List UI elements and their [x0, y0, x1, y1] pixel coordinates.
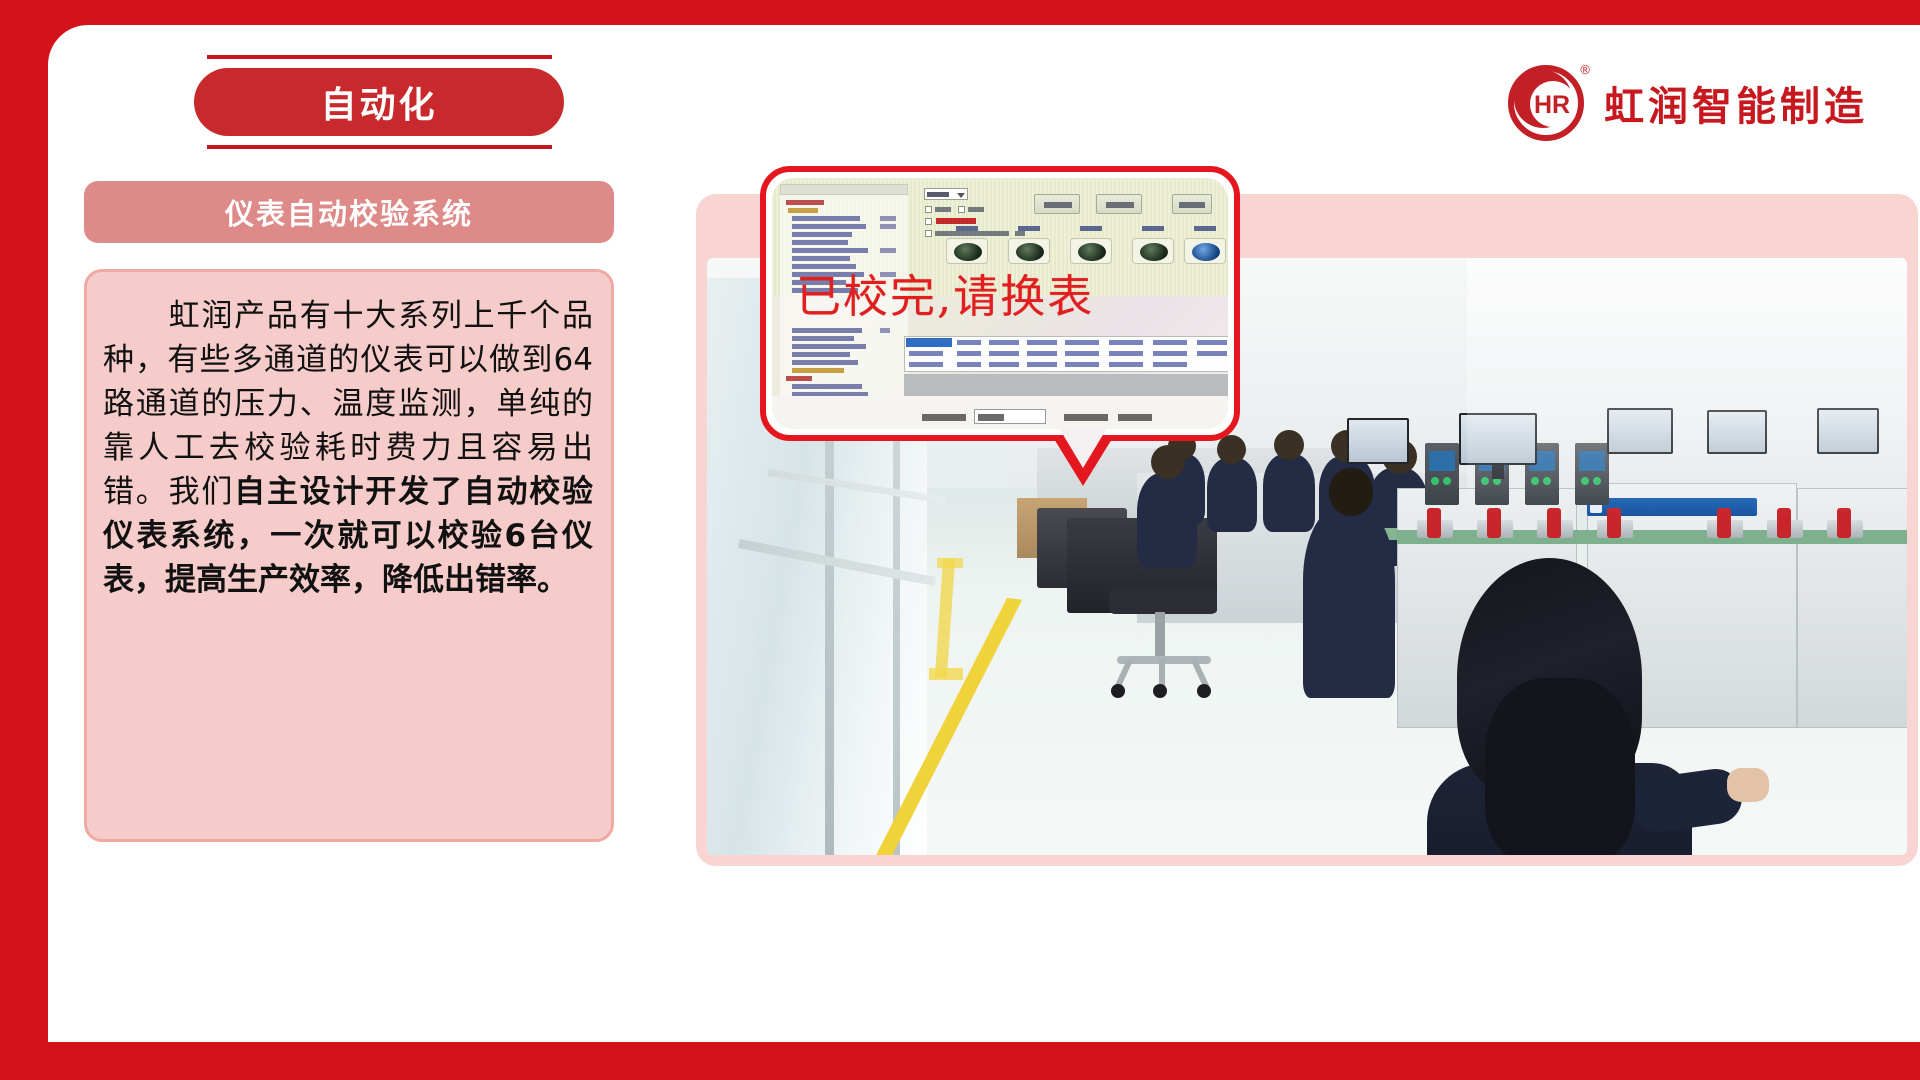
photo-worker-head — [1274, 430, 1304, 460]
grid-cell — [1065, 351, 1099, 356]
lamp-label-4 — [1132, 226, 1174, 232]
photo-monitor-4 — [1347, 418, 1409, 464]
software-status-strip — [904, 374, 1228, 396]
range-value — [1118, 414, 1152, 421]
photo-worker-far-2 — [1207, 458, 1257, 532]
grid-cell — [1027, 362, 1057, 367]
photo-worker-standing — [1303, 508, 1395, 698]
photo-floor-marker-2 — [937, 558, 963, 568]
tree-item[interactable] — [792, 232, 852, 237]
grid-cell — [1109, 340, 1143, 345]
section-title-pill: 自动化 — [194, 68, 564, 136]
tree-item-value — [880, 328, 890, 333]
lamp-bulb-icon — [1016, 243, 1044, 261]
photo-worker-head — [1151, 445, 1185, 479]
grid-cell — [909, 351, 943, 356]
close-button[interactable] — [1034, 194, 1080, 214]
grid-cell — [1065, 340, 1099, 345]
software-tree-header — [780, 184, 908, 195]
tree-item[interactable] — [792, 360, 858, 365]
chair-seat — [1109, 588, 1217, 614]
grid-cell — [957, 340, 981, 345]
grid-header-cell — [906, 338, 952, 347]
photo-clamp-handle — [1427, 508, 1441, 538]
software-screenshot: 已校完,请换表 — [772, 178, 1228, 429]
tree-item-value — [880, 248, 896, 253]
button-label — [1179, 202, 1205, 208]
lamp-label-text — [1142, 226, 1164, 231]
left-text-column: 自动化 仪表自动校验系统 虹润产品有十大系列上千个品种，有些多通道的仪表可以做到… — [84, 55, 674, 842]
status-checkbox[interactable] — [925, 218, 932, 225]
meter-screen — [1429, 451, 1455, 471]
chevron-down-icon — [957, 193, 965, 198]
photo-worker-head — [1329, 468, 1373, 516]
registered-mark-icon: ® — [1580, 62, 1590, 77]
lamp-label-5 — [1184, 226, 1226, 232]
body-paragraph: 虹润产品有十大系列上千个品种，有些多通道的仪表可以做到64路通道的压力、温度监测… — [103, 294, 593, 602]
subtitle-label: 仪表自动校验系统 — [225, 191, 473, 233]
grid-cell — [1109, 362, 1143, 367]
tree-item-value — [880, 224, 896, 229]
chair-wheel — [1197, 684, 1211, 698]
tree-item[interactable] — [792, 336, 854, 341]
button-label — [1106, 202, 1134, 208]
subtitle-bar: 仪表自动校验系统 — [84, 181, 614, 243]
lamp-bulb-icon — [954, 243, 982, 261]
photo-floor-marker-1 — [929, 668, 963, 680]
callout-tail-fill — [1059, 428, 1107, 468]
counter-checkbox[interactable] — [925, 230, 932, 237]
meter-led-2 — [1443, 477, 1451, 485]
grid-cell — [909, 362, 943, 367]
company-name-label: 虹润智能制造 — [1604, 74, 1868, 132]
chair-wheel — [1111, 684, 1125, 698]
input-type-label — [922, 414, 966, 421]
open-port-label — [935, 207, 951, 212]
chair-wheel — [1153, 684, 1167, 698]
button-label — [1044, 202, 1072, 208]
lamp-label-3 — [1070, 226, 1112, 232]
worker-ponytail — [1485, 678, 1635, 855]
logo-hr-text: HR — [1534, 90, 1580, 120]
software-screenshot-callout: 已校完,请换表 — [760, 166, 1240, 441]
tree-item[interactable] — [792, 384, 862, 389]
grid-cell — [989, 340, 1019, 345]
span-cal-button[interactable] — [1172, 194, 1212, 214]
grid-cell — [1027, 340, 1057, 345]
close-port-label — [968, 207, 984, 212]
grid-cell — [1153, 351, 1187, 356]
body-text-card: 虹润产品有十大系列上千个品种，有些多通道的仪表可以做到64路通道的压力、温度监测… — [84, 269, 614, 842]
slide-content-area: 自动化 仪表自动校验系统 虹润产品有十大系列上千个品种，有些多通道的仪表可以做到… — [48, 25, 1920, 1042]
grid-cell — [957, 351, 981, 356]
grid-cell — [1197, 351, 1227, 356]
grid-cell — [1197, 340, 1227, 345]
photo-light-haze — [1467, 258, 1907, 518]
grid-cell — [957, 362, 981, 367]
tree-item[interactable] — [792, 344, 866, 349]
close-port-checkbox[interactable] — [958, 206, 965, 213]
comport-value — [927, 192, 949, 197]
worker-hand — [1727, 768, 1769, 802]
tree-item[interactable] — [792, 224, 866, 229]
calibration-alert-text: 已校完,请换表 — [796, 260, 1228, 325]
grid-cell — [1027, 351, 1057, 356]
lamp-bulb-icon — [1078, 243, 1106, 261]
tree-item[interactable] — [792, 216, 860, 221]
section-title-label: 自动化 — [320, 76, 437, 128]
chair-post — [1155, 612, 1165, 660]
tree-item[interactable] — [792, 352, 850, 357]
input-type-value — [978, 414, 1004, 421]
photo-worker-head — [1217, 435, 1246, 464]
tree-item[interactable] — [786, 200, 824, 205]
tree-item[interactable] — [792, 240, 848, 245]
tree-item[interactable] — [788, 208, 818, 213]
calibration-data-grid[interactable] — [904, 336, 1228, 372]
grid-cell — [1065, 362, 1099, 367]
grid-cell — [1153, 362, 1187, 367]
title-rule-bottom — [207, 145, 552, 149]
lamp-label-1 — [946, 226, 988, 232]
tree-item[interactable] — [792, 328, 862, 333]
hr-logo-icon: HR ® — [1508, 65, 1584, 141]
lamp-label-text — [956, 226, 978, 231]
lamp-label-text — [1194, 226, 1216, 231]
photo-foreground-worker — [1397, 558, 1697, 855]
lamp-bulb-icon — [1140, 243, 1168, 261]
tree-item-selected[interactable] — [792, 368, 844, 373]
tree-item-value — [880, 216, 896, 221]
monitor-screen — [1349, 420, 1407, 462]
grid-cell — [1109, 351, 1143, 356]
lamp-label-text — [1018, 226, 1040, 231]
title-rule-top — [207, 55, 552, 59]
lamp-label-2 — [1008, 226, 1050, 232]
bottom-red-strip — [0, 1042, 1920, 1080]
lamp-label-text — [1080, 226, 1102, 231]
comm-status-label — [936, 218, 976, 224]
grid-cell — [989, 362, 1019, 367]
company-logo: HR ® 虹润智能制造 — [1508, 65, 1868, 141]
zero-cal-button[interactable] — [1096, 194, 1142, 214]
tree-group-header — [786, 376, 812, 381]
range-label — [1064, 414, 1108, 421]
grid-cell — [1153, 340, 1187, 345]
photo-worker-far-3 — [1263, 454, 1315, 532]
open-port-checkbox[interactable] — [925, 206, 932, 213]
photo-office-chair — [1097, 588, 1227, 708]
comport-select[interactable] — [924, 188, 968, 200]
photo-worker-mid-1 — [1137, 473, 1197, 568]
grid-cell — [989, 351, 1019, 356]
lamp-bulb-icon — [1192, 243, 1220, 261]
meter-led-1 — [1431, 477, 1439, 485]
tree-item[interactable] — [792, 248, 868, 253]
media-region: 已校完,请换表 — [696, 166, 1918, 866]
photo-instrument-meter — [1425, 443, 1459, 505]
